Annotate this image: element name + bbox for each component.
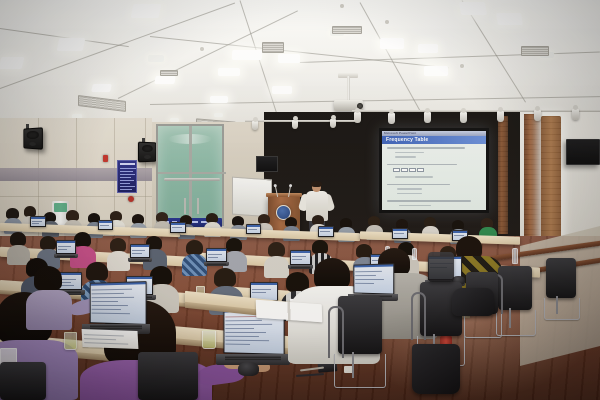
whiteboard [232, 177, 272, 218]
track-spotlight[interactable] [534, 110, 541, 121]
track-spotlight[interactable] [497, 111, 504, 122]
projection-screen: Microsoft PowerPoint Frequency Table [379, 128, 489, 213]
tea-glass[interactable] [202, 330, 216, 349]
paper-handout[interactable] [82, 329, 139, 349]
wood-column [541, 116, 561, 246]
track-spotlight[interactable] [292, 120, 298, 129]
water-bottle[interactable] [512, 248, 518, 264]
track-spotlight[interactable] [388, 113, 395, 124]
lighting-track [245, 120, 355, 122]
slide-body [387, 147, 482, 209]
frosted-glass-door[interactable] [156, 124, 224, 226]
recessed-ceiling-light [272, 86, 292, 94]
recessed-ceiling-light [214, 113, 223, 117]
ceiling-sensor [200, 47, 204, 51]
recessed-ceiling-light [91, 84, 112, 92]
wall-speaker [23, 127, 43, 149]
slide-window-title: Microsoft PowerPoint [384, 132, 416, 135]
wall-speaker [138, 142, 156, 163]
recessed-ceiling-light [424, 66, 448, 76]
water-bottle[interactable] [412, 248, 417, 260]
ceiling-sensor [460, 64, 464, 68]
ceiling-air-vent [521, 46, 549, 56]
ceiling-air-vent [332, 26, 362, 34]
tea-glass[interactable] [64, 332, 77, 350]
wood-column [498, 116, 508, 234]
slide-frequency-table [393, 168, 482, 172]
recessed-ceiling-light [0, 57, 24, 69]
recessed-ceiling-light [57, 38, 86, 51]
alarm-bell-icon [128, 196, 134, 202]
track-spotlight[interactable] [354, 112, 361, 123]
computer-mouse[interactable] [238, 362, 259, 376]
door-handle[interactable] [184, 198, 186, 214]
wood-column [524, 114, 541, 242]
wall-monitor [256, 156, 278, 172]
recessed-ceiling-light [278, 54, 300, 63]
slide-title: Frequency Table [382, 136, 486, 144]
recessed-ceiling-light [496, 13, 523, 25]
recessed-ceiling-light [210, 96, 228, 103]
recessed-ceiling-light [418, 44, 438, 53]
ceiling-air-vent [160, 70, 178, 76]
track-spotlight[interactable] [460, 112, 467, 123]
projector-pole [347, 76, 350, 102]
recessed-ceiling-light [380, 38, 404, 49]
fire-alarm-icon [103, 155, 108, 162]
track-spotlight[interactable] [424, 112, 431, 123]
ceiling-air-vent [262, 42, 284, 53]
notice-board [117, 160, 137, 193]
presenter-hair [311, 181, 322, 187]
wall-mounted-tv [566, 139, 600, 165]
recessed-ceiling-light [148, 55, 164, 62]
track-spotlight[interactable] [252, 121, 258, 130]
backpack[interactable] [452, 288, 494, 316]
recessed-ceiling-light [154, 76, 175, 84]
presentation-slide: Microsoft PowerPoint Frequency Table [382, 131, 486, 210]
backpack[interactable] [412, 344, 460, 394]
door-push-bar[interactable] [164, 178, 220, 181]
door-handle[interactable] [197, 198, 199, 214]
ceiling-sensor [340, 4, 344, 8]
recessed-ceiling-light [459, 2, 487, 15]
track-spotlight[interactable] [572, 109, 579, 120]
lectern-top [266, 193, 302, 197]
recessed-ceiling-light [131, 4, 162, 18]
ceiling-sensor [385, 20, 389, 24]
track-spotlight[interactable] [330, 119, 336, 128]
recessed-ceiling-light [218, 68, 240, 76]
recessed-ceiling-light [232, 50, 263, 60]
lecture-hall-photo: Microsoft PowerPoint Frequency Table [0, 0, 600, 400]
